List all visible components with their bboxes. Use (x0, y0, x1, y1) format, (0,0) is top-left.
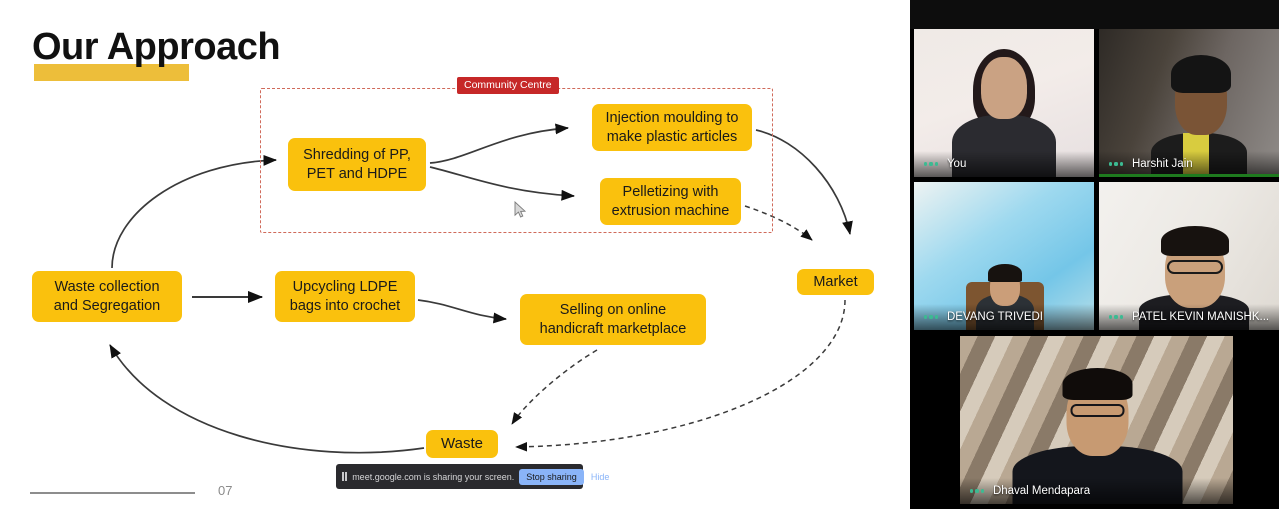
community-centre-label: Community Centre (457, 77, 559, 94)
participant-tile-you[interactable]: You (914, 29, 1094, 177)
panel-bottom-band (910, 504, 1279, 509)
participant-tile-harshit-jain[interactable]: Harshit Jain (1099, 29, 1279, 177)
participant-name-bar: PATEL KEVIN MANISHK... (1099, 304, 1279, 330)
screen: Our Approach Community Centre (0, 0, 1279, 509)
stop-sharing-button[interactable]: Stop sharing (519, 469, 584, 485)
mouse-cursor (514, 201, 527, 219)
person-hair (1062, 368, 1132, 400)
glasses-icon (1070, 404, 1124, 417)
participant-tile-patel-kevin[interactable]: PATEL KEVIN MANISHK... (1099, 182, 1279, 330)
node-market[interactable]: Market (797, 269, 874, 295)
person-head (981, 57, 1027, 119)
node-waste-collection[interactable]: Waste collection and Segregation (32, 271, 182, 322)
audio-activity-icon (1109, 162, 1123, 165)
node-upcycling-ldpe[interactable]: Upcycling LDPE bags into crochet (275, 271, 415, 322)
participant-name-bar: You (914, 151, 1094, 177)
audio-activity-icon (924, 162, 938, 165)
page-number-rule (30, 492, 195, 494)
participant-name: PATEL KEVIN MANISHK... (1132, 311, 1269, 323)
person-hair (988, 264, 1022, 282)
pause-icon (342, 472, 347, 481)
participants-panel: You Harshit Jain (910, 0, 1279, 509)
participant-name-bar: Dhaval Mendapara (960, 478, 1233, 504)
node-selling-online[interactable]: Selling on online handicraft marketplace (520, 294, 706, 345)
hide-button[interactable]: Hide (589, 472, 616, 482)
participant-name: Harshit Jain (1132, 158, 1193, 170)
audio-activity-icon (970, 489, 984, 492)
person-hair (1171, 55, 1231, 93)
screen-sharing-bar: meet.google.com is sharing your screen. … (336, 464, 583, 489)
person-hair (1161, 226, 1229, 256)
participant-tile-devang-trivedi[interactable]: DEVANG TRIVEDI (914, 182, 1094, 330)
node-shredding[interactable]: Shredding of PP, PET and HDPE (288, 138, 426, 191)
shared-screen-slide: Our Approach Community Centre (0, 0, 910, 509)
speaking-indicator (1099, 174, 1279, 177)
audio-activity-icon (924, 315, 938, 318)
participant-name-bar: DEVANG TRIVEDI (914, 304, 1094, 330)
panel-top-band (910, 0, 1279, 29)
glasses-icon (1167, 260, 1223, 274)
node-waste[interactable]: Waste (426, 430, 498, 458)
participant-name: DEVANG TRIVEDI (947, 311, 1043, 323)
node-pelletizing[interactable]: Pelletizing with extrusion machine (600, 178, 741, 225)
page-number: 07 (218, 483, 232, 498)
page-title: Our Approach (32, 26, 280, 69)
participant-tile-dhaval-mendapara[interactable]: Dhaval Mendapara (960, 336, 1233, 504)
participant-name: You (947, 158, 966, 170)
audio-activity-icon (1109, 315, 1123, 318)
sharing-message: meet.google.com is sharing your screen. (352, 472, 514, 482)
node-injection-moulding[interactable]: Injection moulding to make plastic artic… (592, 104, 752, 151)
participant-name: Dhaval Mendapara (993, 485, 1090, 497)
